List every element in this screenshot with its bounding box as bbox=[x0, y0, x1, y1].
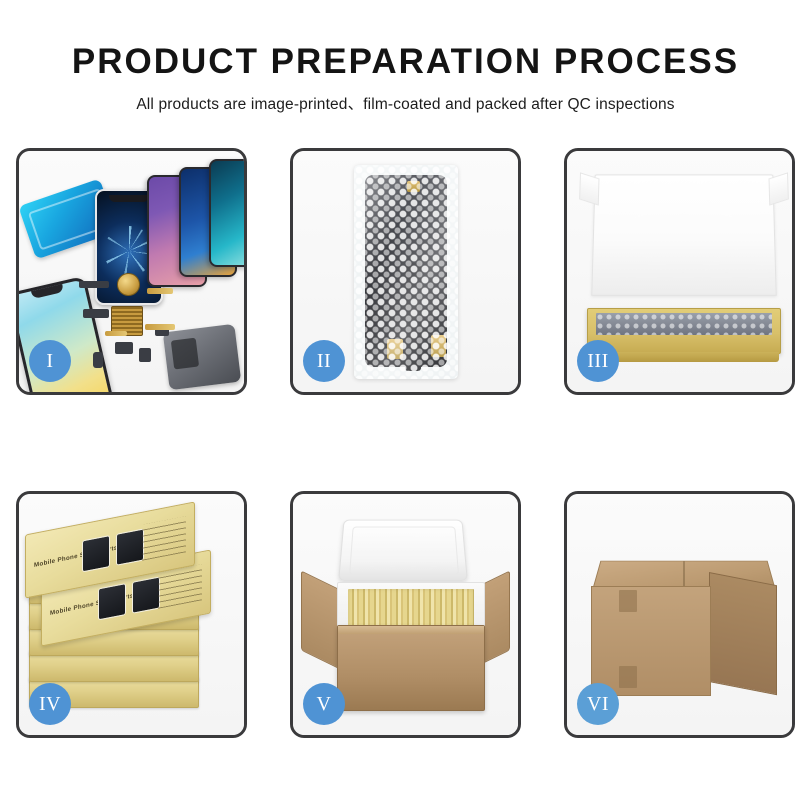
carton-front-graphic bbox=[591, 586, 711, 696]
step-badge-3: III bbox=[577, 340, 619, 382]
box-print-screen-b bbox=[132, 576, 160, 613]
process-step-5[interactable]: V bbox=[290, 491, 521, 738]
kraft-box-tray-graphic bbox=[587, 308, 781, 354]
foam-lid-graphic bbox=[338, 520, 468, 581]
box-print-text-lines bbox=[142, 516, 186, 561]
bubble-wrap-bag-graphic bbox=[354, 165, 458, 379]
box-print-screen-a bbox=[82, 535, 110, 572]
process-step-grid: I II bbox=[16, 148, 796, 738]
flex-cable-graphic bbox=[105, 331, 127, 336]
process-step-1[interactable]: I bbox=[16, 148, 247, 395]
page-subtitle: All products are image-printed、film-coat… bbox=[0, 92, 811, 114]
packed-retail-boxes-graphic bbox=[348, 589, 474, 629]
step-badge-6: VI bbox=[577, 683, 619, 725]
flex-cable-graphic bbox=[147, 288, 173, 294]
box-print-screen-a bbox=[98, 583, 126, 620]
carton-tape-lower-graphic bbox=[619, 666, 637, 688]
plastic-sheen bbox=[354, 165, 458, 379]
part-dot bbox=[139, 348, 151, 362]
product-preparation-infographic: PRODUCT PREPARATION PROCESS All products… bbox=[0, 0, 811, 811]
carton-tape-upper-graphic bbox=[619, 590, 637, 612]
bubble-wrapped-contents-graphic bbox=[596, 313, 772, 335]
part-dot bbox=[93, 352, 103, 368]
carton-side-graphic bbox=[709, 572, 777, 695]
process-step-2[interactable]: II bbox=[290, 148, 521, 395]
step-badge-2: II bbox=[303, 340, 345, 382]
white-box-lid-graphic bbox=[591, 174, 776, 295]
box-print-screen-b bbox=[116, 528, 144, 565]
process-step-6[interactable]: VI bbox=[564, 491, 795, 738]
part-dot bbox=[115, 342, 133, 354]
process-step-4[interactable]: Mobile Phone Spare Parts Mobile Phone Sp… bbox=[16, 491, 247, 738]
phone-teal-graphic bbox=[209, 159, 244, 267]
part-dot bbox=[79, 281, 109, 288]
process-step-3[interactable]: III bbox=[564, 148, 795, 395]
speaker-module-graphic bbox=[117, 273, 140, 296]
phone-back-housing-graphic bbox=[163, 324, 242, 390]
step-badge-4: IV bbox=[29, 683, 71, 725]
carton-body-graphic bbox=[337, 625, 485, 711]
page-title: PRODUCT PREPARATION PROCESS bbox=[0, 44, 811, 81]
flex-cable-graphic bbox=[145, 324, 175, 330]
step-badge-1: I bbox=[29, 340, 71, 382]
step-badge-5: V bbox=[303, 683, 345, 725]
part-dot bbox=[83, 309, 109, 318]
header: PRODUCT PREPARATION PROCESS All products… bbox=[0, 0, 811, 114]
